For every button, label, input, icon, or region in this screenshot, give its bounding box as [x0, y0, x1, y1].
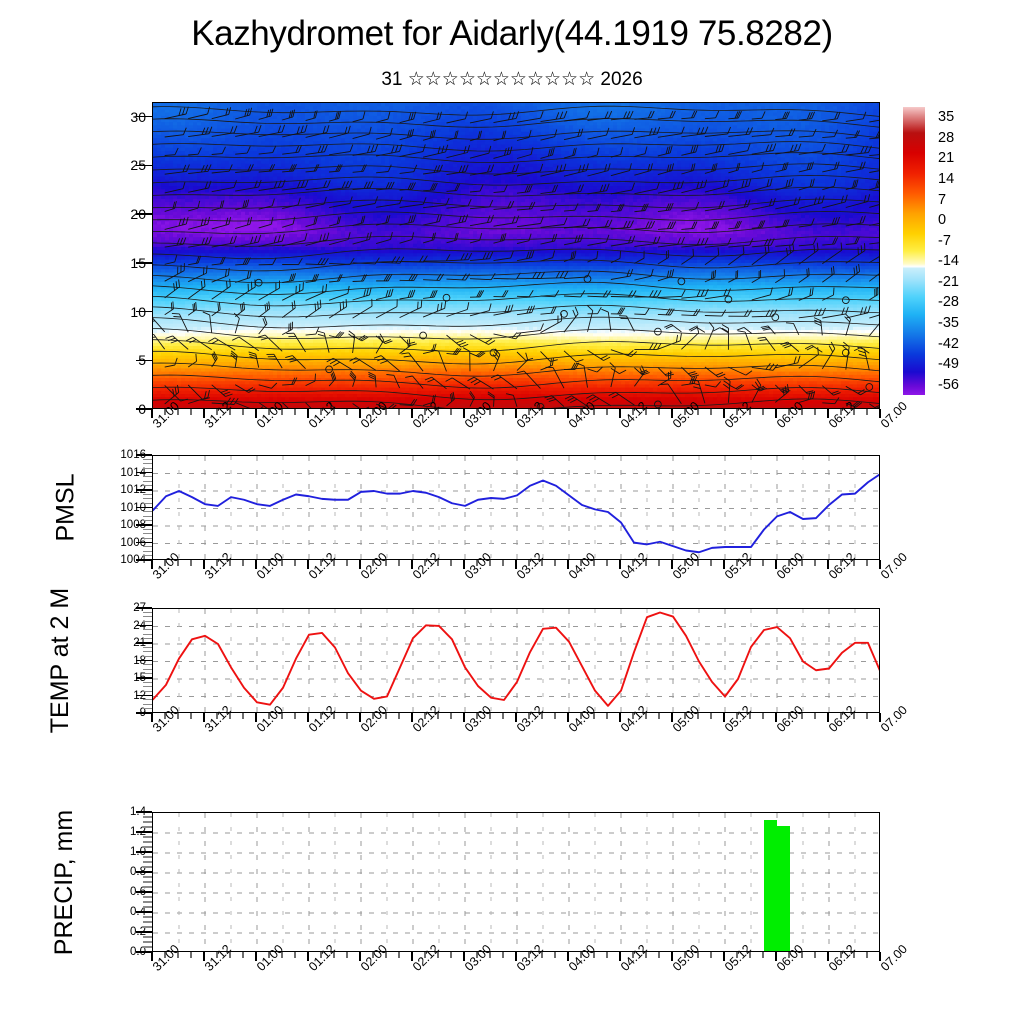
x-tick-label: 07.00: [878, 399, 910, 431]
y-tick-minor: [143, 516, 152, 517]
x-tick-minor: [450, 713, 451, 719]
cross-section-canvas: [153, 103, 880, 409]
y-tick-minor: [143, 503, 152, 504]
y-tick-minor: [143, 826, 152, 827]
y-tick-mark: [136, 642, 152, 643]
x-tick-minor: [814, 409, 815, 415]
y-tick-mark: [136, 454, 152, 455]
x-tick-minor: [814, 952, 815, 958]
subtitle-day: 31: [381, 69, 402, 90]
y-tick-minor: [143, 555, 152, 556]
x-tick-minor: [294, 409, 295, 415]
temperature-colorbar: [903, 107, 925, 395]
x-tick-minor: [294, 952, 295, 958]
colorbar-tick-label: -7: [938, 234, 951, 249]
y-tick-minor: [143, 612, 152, 613]
y-tick-minor: [143, 941, 152, 942]
y-tick-minor: [143, 476, 152, 477]
x-tick-minor: [242, 409, 243, 415]
y-tick-minor: [143, 856, 152, 857]
y-tick-minor: [143, 546, 152, 547]
x-tick-label: 07.00: [878, 703, 910, 735]
x-tick-minor: [242, 713, 243, 719]
y-tick-minor: [143, 664, 152, 665]
y-tick-minor: [143, 511, 152, 512]
x-tick-minor: [658, 560, 659, 566]
x-tick-minor: [762, 409, 763, 415]
colorbar-tick-label: -56: [938, 378, 959, 393]
y-tick-minor: [143, 861, 152, 862]
colorbar-tick-label: -35: [938, 316, 959, 331]
y-tick-minor: [143, 881, 152, 882]
y-tick-minor: [143, 520, 152, 521]
x-tick-minor: [346, 713, 347, 719]
y-tick-minor: [143, 691, 152, 692]
colorbar-tick-label: -42: [938, 337, 959, 352]
y-tick-mark: [136, 831, 152, 832]
x-tick-minor: [450, 409, 451, 415]
x-tick-minor: [606, 952, 607, 958]
y-tick-minor: [143, 901, 152, 902]
y-tick-minor: [143, 485, 152, 486]
y-tick-mark: [136, 262, 152, 263]
y-tick-mark: [136, 660, 152, 661]
x-tick-minor: [190, 713, 191, 719]
precip-axis-title: PRECIP, mm: [50, 809, 79, 954]
y-tick-mark: [136, 931, 152, 932]
x-tick-minor: [502, 560, 503, 566]
x-tick-minor: [554, 560, 555, 566]
x-tick-minor: [606, 560, 607, 566]
y-tick-mark: [136, 677, 152, 678]
colorbar-tick-label: 35: [938, 110, 954, 125]
y-tick-mark: [136, 871, 152, 872]
x-tick-minor: [242, 952, 243, 958]
x-tick-minor: [294, 713, 295, 719]
y-tick-mark: [136, 607, 152, 608]
x-tick-minor: [554, 952, 555, 958]
x-tick-minor: [190, 560, 191, 566]
temp-2m-axis-title: TEMP at 2 M: [46, 588, 75, 733]
x-tick-minor: [710, 713, 711, 719]
y-tick-minor: [143, 551, 152, 552]
y-tick-minor: [143, 538, 152, 539]
y-tick-minor: [143, 673, 152, 674]
y-tick-mark: [136, 472, 152, 473]
x-tick-minor: [398, 713, 399, 719]
y-tick-minor: [143, 529, 152, 530]
y-tick-minor: [143, 638, 152, 639]
colorbar-tick-label: 0: [938, 213, 946, 228]
precip-plot: [152, 812, 880, 952]
colorbar-tick-label: 28: [938, 131, 954, 146]
colorbar-tick-label: 21: [938, 151, 954, 166]
x-tick-minor: [242, 560, 243, 566]
y-tick-minor: [143, 921, 152, 922]
temperature-cross-section-plot: [152, 102, 880, 409]
y-tick-minor: [143, 841, 152, 842]
y-tick-minor: [143, 896, 152, 897]
x-tick-minor: [190, 952, 191, 958]
y-tick-mark: [136, 559, 152, 560]
x-tick-minor: [814, 560, 815, 566]
y-tick-mark: [136, 951, 152, 952]
y-tick-minor: [143, 708, 152, 709]
y-tick-minor: [143, 682, 152, 683]
x-tick-minor: [346, 560, 347, 566]
y-tick-minor: [143, 651, 152, 652]
x-tick-minor: [502, 952, 503, 958]
x-tick-minor: [398, 560, 399, 566]
x-tick-minor: [866, 409, 867, 415]
colorbar-tick-label: 7: [938, 193, 946, 208]
x-tick-minor: [398, 409, 399, 415]
x-tick-minor: [710, 409, 711, 415]
y-tick-minor: [143, 494, 152, 495]
x-tick-minor: [450, 952, 451, 958]
y-tick-minor: [143, 468, 152, 469]
x-tick-minor: [502, 713, 503, 719]
x-tick-minor: [346, 952, 347, 958]
y-tick-minor: [143, 876, 152, 877]
page-subtitle: 31 ☆☆☆☆☆☆☆☆☆☆☆ 2026: [0, 68, 1024, 91]
x-tick-minor: [398, 952, 399, 958]
y-tick-minor: [143, 498, 152, 499]
y-tick-mark: [136, 695, 152, 696]
y-tick-minor: [143, 463, 152, 464]
y-tick-minor: [143, 906, 152, 907]
colorbar-tick-label: -28: [938, 295, 959, 310]
y-tick-mark: [136, 851, 152, 852]
y-tick-mark: [136, 524, 152, 525]
x-tick-minor: [658, 952, 659, 958]
x-tick-minor: [294, 560, 295, 566]
x-tick-minor: [814, 713, 815, 719]
x-tick-minor: [450, 560, 451, 566]
pmsl-axis-title: PMSL: [52, 473, 81, 541]
y-tick-minor: [143, 647, 152, 648]
y-tick-minor: [143, 686, 152, 687]
y-tick-minor: [143, 533, 152, 534]
x-tick-minor: [346, 409, 347, 415]
pmsl-plot: [152, 455, 880, 560]
y-tick-mark: [136, 542, 152, 543]
y-tick-minor: [143, 946, 152, 947]
x-tick-label: 07.00: [878, 942, 910, 974]
y-tick-minor: [143, 656, 152, 657]
colorbar-tick-label: 14: [938, 172, 954, 187]
y-tick-minor: [143, 629, 152, 630]
temp-2m-canvas: [153, 609, 880, 713]
y-tick-minor: [143, 699, 152, 700]
page-title: Kazhydromet for Aidarly(44.1919 75.8282): [0, 14, 1024, 54]
x-tick-minor: [606, 713, 607, 719]
x-tick-minor: [190, 409, 191, 415]
y-tick-minor: [143, 836, 152, 837]
x-tick-minor: [866, 952, 867, 958]
subtitle-month-glyphs: ☆☆☆☆☆☆☆☆☆☆☆: [408, 69, 595, 90]
y-tick-mark: [136, 360, 152, 361]
colorbar-tick-label: -21: [938, 275, 959, 290]
y-tick-mark: [136, 311, 152, 312]
y-tick-minor: [143, 816, 152, 817]
x-tick-minor: [762, 560, 763, 566]
x-tick-label: 07.00: [878, 550, 910, 582]
y-tick-minor: [143, 634, 152, 635]
y-tick-minor: [143, 846, 152, 847]
x-tick-minor: [762, 952, 763, 958]
x-tick-minor: [606, 409, 607, 415]
x-tick-minor: [710, 952, 711, 958]
pmsl-canvas: [153, 456, 880, 560]
y-tick-minor: [143, 616, 152, 617]
y-tick-mark: [136, 213, 152, 214]
y-tick-minor: [143, 481, 152, 482]
y-tick-minor: [143, 621, 152, 622]
y-tick-minor: [143, 669, 152, 670]
y-tick-minor: [143, 926, 152, 927]
y-tick-minor: [143, 936, 152, 937]
y-tick-minor: [143, 821, 152, 822]
x-tick-minor: [866, 713, 867, 719]
meteogram-page: Kazhydromet for Aidarly(44.1919 75.8282)…: [0, 0, 1024, 1024]
y-tick-mark: [136, 625, 152, 626]
y-tick-mark: [136, 891, 152, 892]
precip-canvas: [153, 813, 880, 952]
x-tick-minor: [658, 713, 659, 719]
y-tick-minor: [143, 866, 152, 867]
y-tick-minor: [143, 886, 152, 887]
y-tick-minor: [143, 459, 152, 460]
x-tick-minor: [710, 560, 711, 566]
x-tick-minor: [762, 713, 763, 719]
colorbar-tick-label: -49: [938, 357, 959, 372]
x-tick-minor: [554, 713, 555, 719]
y-tick-minor: [143, 916, 152, 917]
y-tick-mark: [136, 712, 152, 713]
x-tick-minor: [502, 409, 503, 415]
y-tick-mark: [136, 911, 152, 912]
y-tick-mark: [136, 116, 152, 117]
y-tick-mark: [136, 811, 152, 812]
x-tick-minor: [554, 409, 555, 415]
temp-2m-plot: [152, 608, 880, 713]
y-tick-mark: [136, 408, 152, 409]
colorbar-tick-label: -14: [938, 254, 959, 269]
y-tick-mark: [136, 507, 152, 508]
subtitle-year: 2026: [600, 69, 642, 90]
x-tick-minor: [866, 560, 867, 566]
y-tick-minor: [143, 704, 152, 705]
y-tick-mark: [136, 489, 152, 490]
y-tick-mark: [136, 165, 152, 166]
x-tick-minor: [658, 409, 659, 415]
